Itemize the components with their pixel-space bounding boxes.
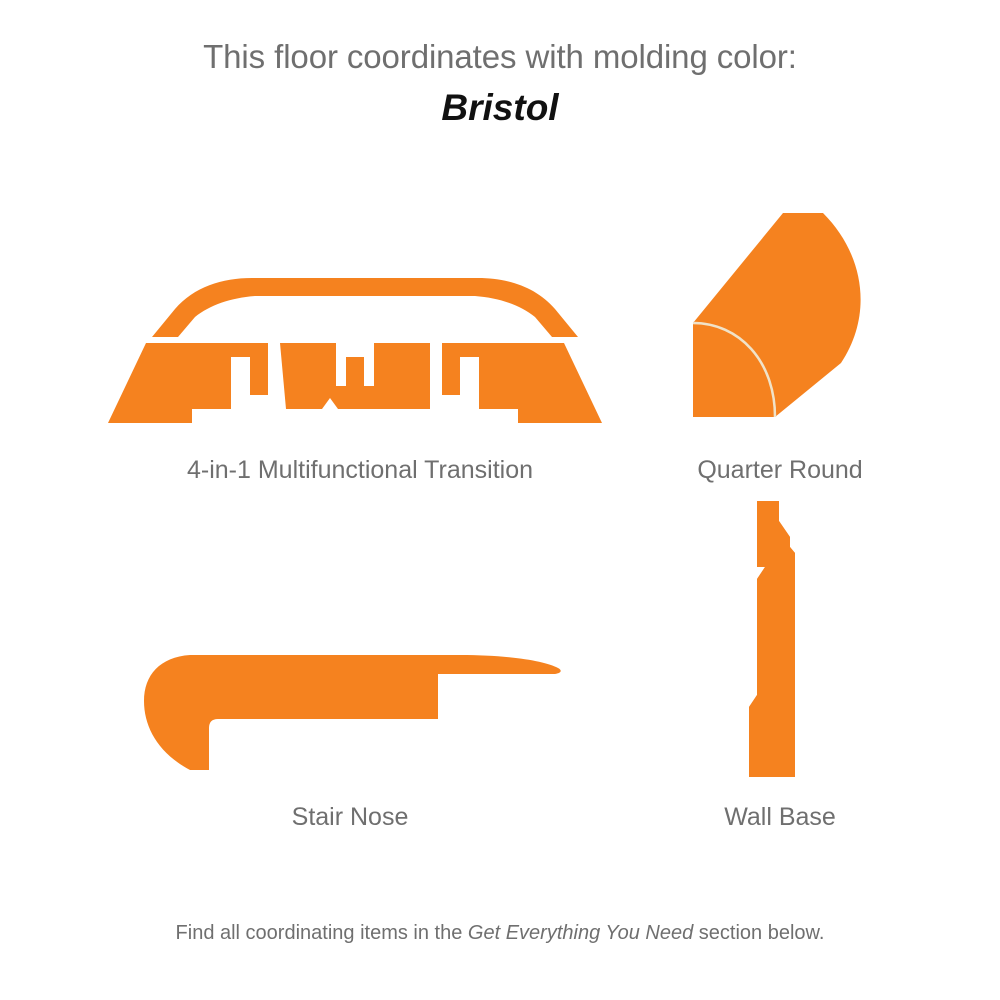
molding-coordination-panel: This floor coordinates with molding colo… (0, 0, 1000, 1000)
product-tile-transition[interactable] (100, 265, 620, 445)
product-label-wall-base: Wall Base (630, 802, 930, 832)
product-tile-wall-base[interactable] (735, 495, 835, 790)
molding-color-name: Bristol (0, 86, 1000, 130)
molding-profile-wall-base-icon (735, 495, 835, 790)
footer-prefix: Find all coordinating items in the (176, 922, 468, 944)
molding-profile-4in1-transition-icon (100, 265, 620, 445)
product-tile-quarter-round[interactable] (655, 195, 905, 445)
page-title: This floor coordinates with molding colo… (0, 36, 1000, 78)
molding-product-grid: 4-in-1 Multifunctional Transition Quarte… (0, 170, 1000, 870)
footer-note: Find all coordinating items in the Get E… (0, 920, 1000, 946)
molding-profile-quarter-round-icon (655, 195, 905, 445)
product-label-stair-nose: Stair Nose (60, 802, 640, 832)
molding-profile-stair-nose-icon (130, 635, 580, 795)
footer-suffix: section below. (693, 922, 824, 944)
footer-emphasis: Get Everything You Need (468, 922, 693, 944)
page-header: This floor coordinates with molding colo… (0, 36, 1000, 130)
product-tile-stair-nose[interactable] (130, 635, 580, 795)
product-label-transition: 4-in-1 Multifunctional Transition (60, 455, 660, 485)
product-label-quarter-round: Quarter Round (630, 455, 930, 485)
